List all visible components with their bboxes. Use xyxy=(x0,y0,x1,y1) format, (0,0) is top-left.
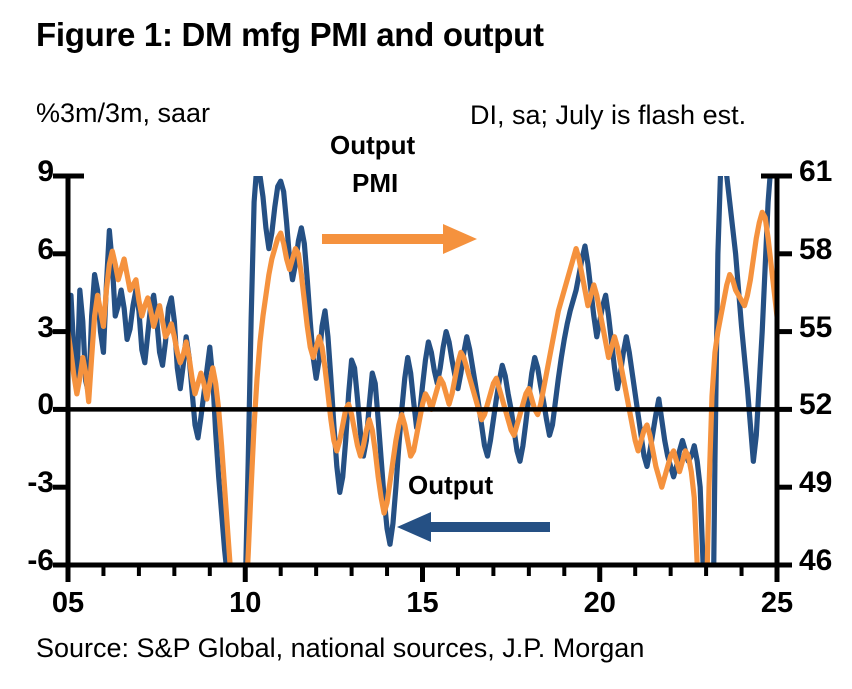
y-tick-label-right: 55 xyxy=(799,311,852,345)
y-tick-label-left: 6 xyxy=(0,233,54,267)
figure-container: Figure 1: DM mfg PMI and output %3m/3m, … xyxy=(0,0,852,689)
x-tick-label: 15 xyxy=(383,587,463,620)
chart-plot-area xyxy=(0,0,852,689)
x-tick-label: 20 xyxy=(560,587,640,620)
x-tick-label: 05 xyxy=(28,587,108,620)
y-tick-label-right: 49 xyxy=(799,466,852,500)
x-tick-label: 25 xyxy=(737,587,817,620)
source-note: Source: S&P Global, national sources, J.… xyxy=(36,633,644,664)
y-tick-label-right: 52 xyxy=(799,388,852,422)
y-tick-label-left: 3 xyxy=(0,311,54,345)
x-tick-label: 10 xyxy=(205,587,285,620)
y-tick-label-left: 0 xyxy=(0,388,54,422)
arrow-right-output-pmi xyxy=(322,224,477,254)
y-tick-label-left: -3 xyxy=(0,466,54,500)
y-tick-label-right: 46 xyxy=(799,544,852,578)
y-tick-label-right: 61 xyxy=(799,155,852,189)
arrow-left-output xyxy=(397,512,550,542)
y-tick-label-right: 58 xyxy=(799,233,852,267)
y-tick-label-left: 9 xyxy=(0,155,54,189)
y-tick-label-left: -6 xyxy=(0,544,54,578)
